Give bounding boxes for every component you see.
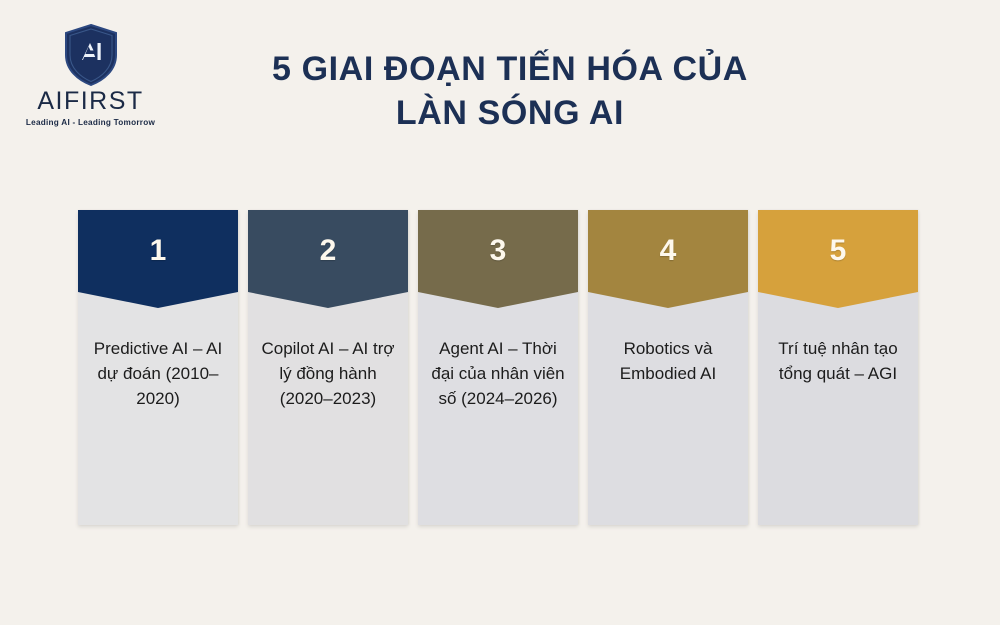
stage-number-1: 1	[78, 210, 238, 292]
stage-number-3: 3	[418, 210, 578, 292]
stage-text-1: Predictive AI – AI dự đoán (2010–2020)	[78, 308, 238, 411]
stage-card-4[interactable]: 4 Robotics và Embodied AI	[588, 210, 748, 525]
stage-text-3: Agent AI – Thời đại của nhân viên số (20…	[418, 308, 578, 411]
stage-card-1-header: 1	[78, 210, 238, 308]
stage-card-5[interactable]: 5 Trí tuệ nhân tạo tổng quát – AGI	[758, 210, 918, 525]
page-title-line-2: LÀN SÓNG AI	[200, 92, 820, 136]
stage-card-4-header: 4	[588, 210, 748, 308]
stage-card-2[interactable]: 2 Copilot AI – AI trợ lý đồng hành (2020…	[248, 210, 408, 525]
brand-name: AIFIRST	[18, 88, 163, 114]
stage-card-5-header: 5	[758, 210, 918, 308]
stage-card-3[interactable]: 3 Agent AI – Thời đại của nhân viên số (…	[418, 210, 578, 525]
shield-ai-icon	[63, 24, 119, 86]
stage-card-1[interactable]: 1 Predictive AI – AI dự đoán (2010–2020)	[78, 210, 238, 525]
page-title: 5 GIAI ĐOẠN TIẾN HÓA CỦA LÀN SÓNG AI	[200, 48, 820, 135]
stage-number-2: 2	[248, 210, 408, 292]
stage-card-3-header: 3	[418, 210, 578, 308]
brand-logo-block: AIFIRST Leading AI - Leading Tomorrow	[18, 24, 163, 127]
stage-card-2-header: 2	[248, 210, 408, 308]
stage-number-5: 5	[758, 210, 918, 292]
stage-text-4: Robotics và Embodied AI	[588, 308, 748, 386]
stage-cards-row: 1 Predictive AI – AI dự đoán (2010–2020)…	[78, 210, 922, 525]
page-title-line-1: 5 GIAI ĐOẠN TIẾN HÓA CỦA	[200, 48, 820, 92]
brand-tagline: Leading AI - Leading Tomorrow	[18, 118, 163, 127]
stage-text-5: Trí tuệ nhân tạo tổng quát – AGI	[758, 308, 918, 386]
stage-number-4: 4	[588, 210, 748, 292]
stage-text-2: Copilot AI – AI trợ lý đồng hành (2020–2…	[248, 308, 408, 411]
